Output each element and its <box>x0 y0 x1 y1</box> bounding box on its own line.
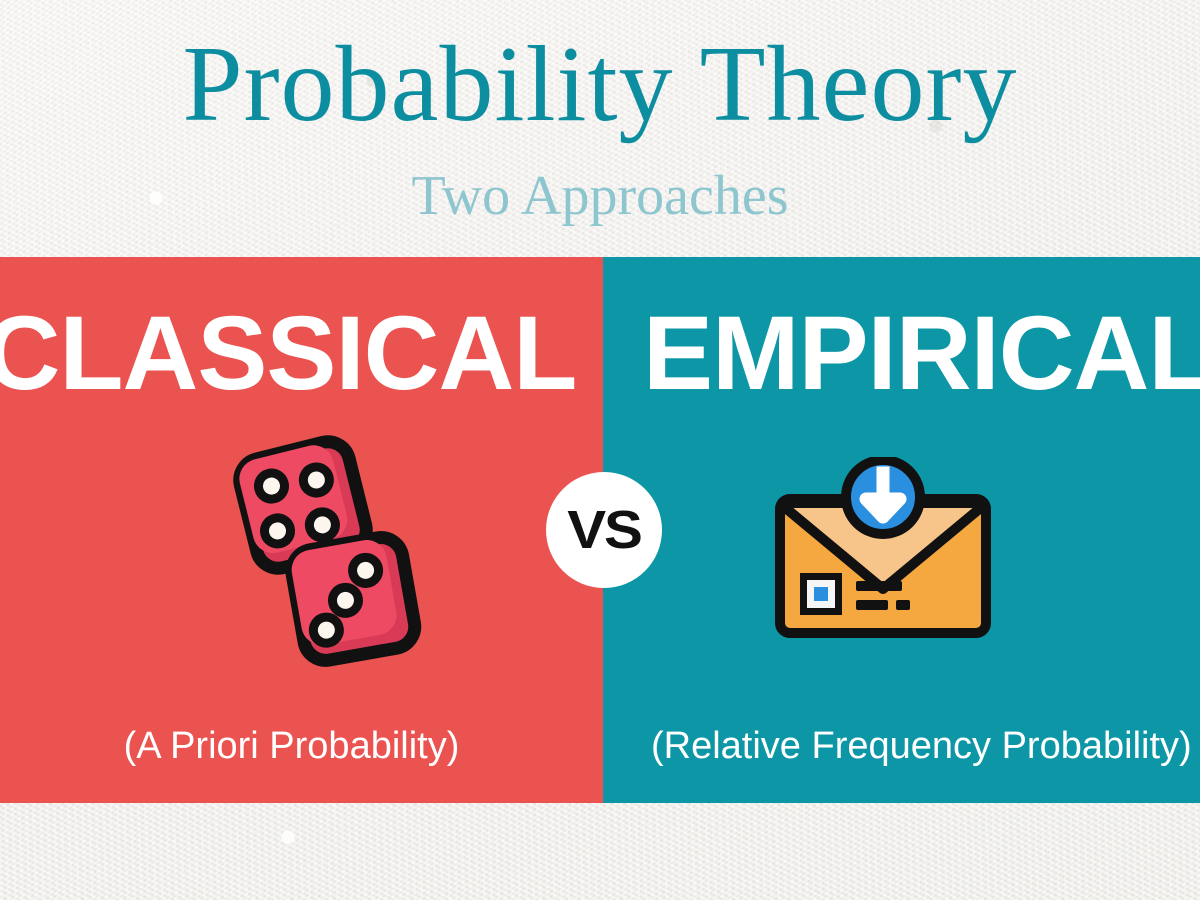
panel-classical[interactable]: CLASSICAL <box>0 257 603 803</box>
panel-classical-heading: CLASSICAL <box>0 301 603 406</box>
panel-empirical-caption: (Relative Frequency Probability) <box>651 727 1192 765</box>
panel-classical-caption: (A Priori Probability) <box>0 727 593 765</box>
download-arrow-badge <box>846 460 920 534</box>
vs-label: VS <box>567 503 640 557</box>
panel-empirical-heading: EMPIRICAL <box>643 301 1200 406</box>
poster-header: Probability Theory Two Approaches <box>0 0 1200 257</box>
probability-theory-poster: Probability Theory Two Approaches CLASSI… <box>0 0 1200 900</box>
page-subtitle: Two Approaches <box>0 168 1200 224</box>
envelope-download-icon <box>768 457 998 647</box>
dice-icon <box>225 427 425 667</box>
panel-empirical[interactable]: EMPIRICAL <box>603 257 1200 803</box>
page-title: Probability Theory <box>0 28 1200 141</box>
vs-badge: VS <box>546 472 662 588</box>
stamp-glyph <box>800 573 842 615</box>
